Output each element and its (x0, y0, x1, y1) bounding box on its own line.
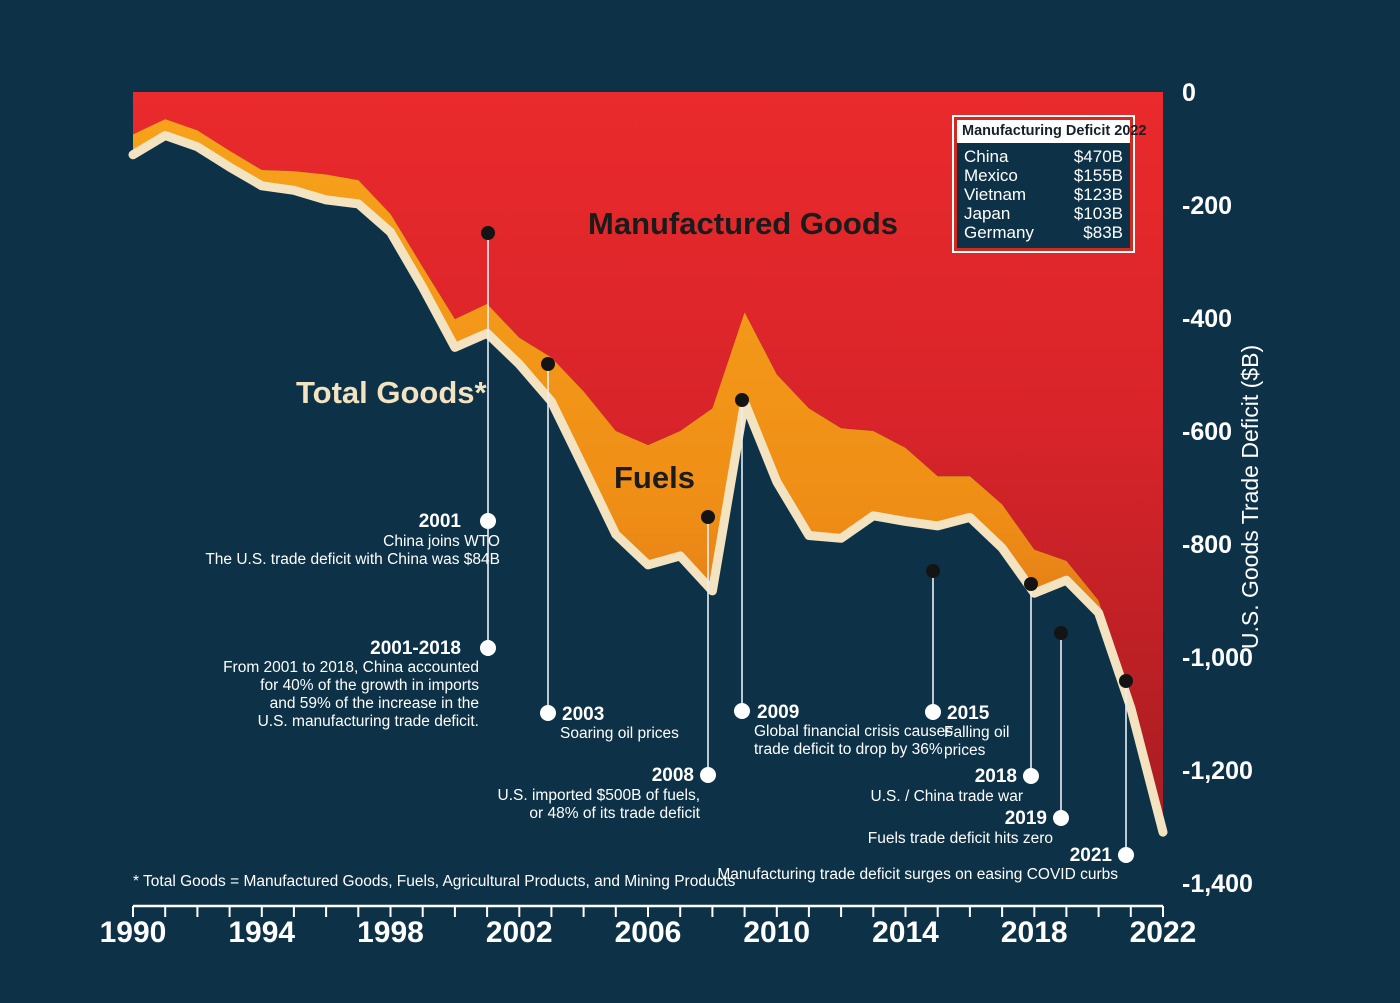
annotation-body-line: prices (944, 742, 986, 759)
y-axis-tick-label: -400 (1182, 305, 1232, 333)
footnote-total-goods: * Total Goods = Manufactured Goods, Fuel… (133, 873, 736, 890)
x-axis-tick-label: 2018 (1001, 916, 1068, 949)
x-axis-tick-label: 2022 (1130, 916, 1197, 949)
legend-rows: China$470BMexico$155BVietnam$123BJapan$1… (957, 143, 1130, 248)
annotation-body-line: The U.S. trade deficit with China was $8… (205, 551, 500, 568)
label-manufactured-goods: Manufactured Goods (588, 206, 898, 241)
legend-country: Mexico (964, 166, 1018, 185)
legend-country: China (964, 147, 1008, 166)
annotation-body-line: or 48% of its trade deficit (529, 805, 700, 822)
legend-row: Mexico$155B (964, 166, 1123, 185)
annotation-label-dot (540, 705, 556, 721)
x-axis-tick-label: 1990 (100, 916, 167, 949)
x-axis: 199019941998200220062010201420182022 (100, 906, 1197, 949)
y-axis-tick-label: -1,400 (1182, 870, 1253, 898)
legend-row: Japan$103B (964, 204, 1123, 223)
annotation-label-dot (480, 640, 496, 656)
x-axis-tick-label: 2010 (743, 916, 810, 949)
annotation-body-line: and 59% of the increase in the (270, 695, 479, 712)
x-axis-tick-label: 2002 (486, 916, 553, 949)
annotation-body-line: Soaring oil prices (560, 725, 679, 742)
legend-title: Manufacturing Deficit 2022 (957, 120, 1130, 143)
infographic-canvas: Manufactured Goods Fuels Total Goods* 0-… (0, 0, 1400, 1003)
annotation-body-line: U.S. imported $500B of fuels, (498, 787, 700, 804)
annotation-year: 2008 (652, 765, 694, 786)
y-axis-tick-label: 0 (1182, 79, 1196, 107)
legend-value: $155B (1064, 166, 1123, 185)
legend-value: $123B (1064, 185, 1123, 204)
legend-row: Vietnam$123B (964, 185, 1123, 204)
annotation-year: 2015 (947, 703, 990, 724)
legend-manufacturing-deficit-2022: Manufacturing Deficit 2022 China$470BMex… (952, 115, 1135, 253)
annotation-body-line: From 2001 to 2018, China accounted (223, 659, 479, 676)
annotation-year: 2003 (562, 704, 604, 725)
annotation-body-line: Fuels trade deficit hits zero (868, 830, 1053, 847)
annotation-label-dot (1053, 810, 1069, 826)
annotation-body-line: trade deficit to drop by 36% (754, 741, 943, 758)
annotation-body-line: Falling oil (944, 724, 1009, 741)
y-axis-tick-label: -1,200 (1182, 757, 1253, 785)
legend-row: Germany$83B (964, 223, 1123, 242)
annotation-anchor-dot (1054, 626, 1068, 640)
annotation-label-dot (925, 704, 941, 720)
annotation-year: 2001 (419, 511, 462, 532)
annotation-year: 2021 (1070, 845, 1113, 866)
x-axis-tick-label: 2014 (872, 916, 939, 949)
y-axis-title: U.S. Goods Trade Deficit ($B) (1237, 345, 1263, 649)
annotation-label-dot (734, 703, 750, 719)
annotation-anchor-dot (701, 510, 715, 524)
annotation-year: 2009 (757, 702, 799, 723)
x-axis-tick-label: 1994 (228, 916, 295, 949)
legend-value: $470B (1064, 147, 1123, 166)
label-fuels: Fuels (614, 460, 695, 495)
annotation-anchor-dot (1119, 674, 1133, 688)
trade-deficit-area-chart: Manufactured Goods Fuels Total Goods* 0-… (0, 0, 1400, 1003)
legend-country: Vietnam (964, 185, 1026, 204)
legend-country: Germany (964, 223, 1034, 242)
annotation-year: 2019 (1005, 808, 1047, 829)
annotation-body-line: Manufacturing trade deficit surges on ea… (717, 866, 1118, 883)
annotation-label-dot (1118, 847, 1134, 863)
legend-row: China$470B (964, 147, 1123, 166)
legend-value: $103B (1064, 204, 1123, 223)
annotation-body-line: U.S. manufacturing trade deficit. (258, 713, 479, 730)
annotation-year: 2001-2018 (370, 638, 461, 659)
annotation-body-line: China joins WTO (383, 533, 500, 550)
legend-country: Japan (964, 204, 1010, 223)
annotation-anchor-dot (541, 357, 555, 371)
y-axis-tick-label: -200 (1182, 192, 1232, 220)
annotation-label-dot (700, 767, 716, 783)
legend-value: $83B (1073, 223, 1123, 242)
y-axis-tick-label: -800 (1182, 531, 1232, 559)
y-axis-tick-label: -600 (1182, 418, 1232, 446)
x-axis-tick-label: 1998 (357, 916, 424, 949)
annotation-2018: 2018U.S. / China trade war (871, 577, 1039, 805)
annotation-anchor-dot (926, 564, 940, 578)
annotation-body-line: Global financial crisis causes (754, 723, 953, 740)
annotation-anchor-dot (481, 514, 495, 528)
annotation-label-dot (1023, 768, 1039, 784)
x-axis-tick-label: 2006 (615, 916, 682, 949)
annotation-anchor-dot (1024, 577, 1038, 591)
annotation-body-line: U.S. / China trade war (871, 788, 1023, 805)
annotation-anchor-dot (735, 393, 749, 407)
annotation-body-line: for 40% of the growth in imports (260, 677, 479, 694)
annotation-year: 2018 (975, 766, 1017, 787)
label-total-goods: Total Goods* (296, 375, 488, 410)
annotation-anchor-dot (481, 226, 495, 240)
